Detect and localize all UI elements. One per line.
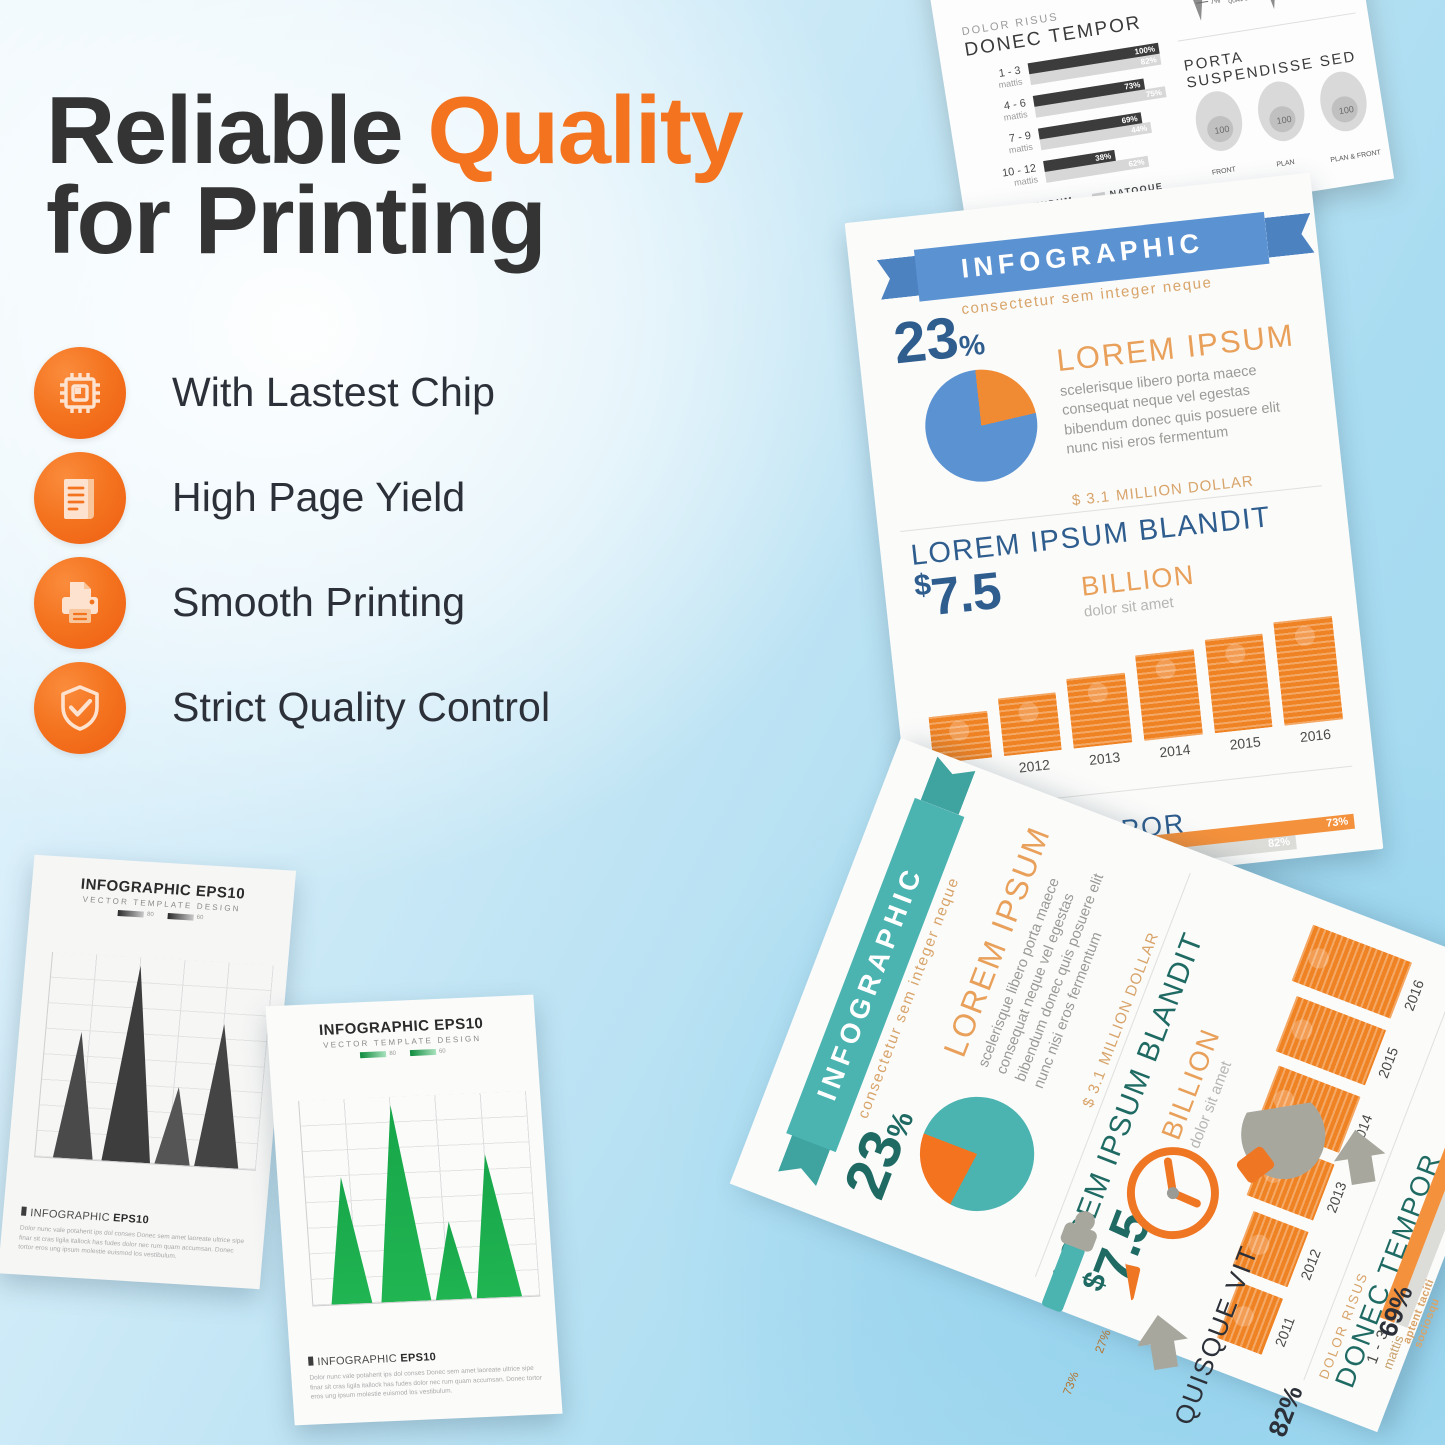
bar-item: 2013	[1067, 673, 1135, 770]
chart-green: INFOGRAPHIC EPS10 VECTOR TEMPLATE DESIGN…	[265, 995, 562, 1426]
pie-percent: 23%	[890, 301, 987, 377]
chart-footer-body: Dolor nunc vale potaherit ips dol conses…	[309, 1363, 545, 1402]
feature-label: Smooth Printing	[172, 579, 465, 626]
year-bar-chart: 2011 2012 2013 2014 2015 2016	[922, 613, 1345, 785]
chart-header: INFOGRAPHIC EPS10 VECTOR TEMPLATE DESIGN…	[267, 1013, 537, 1063]
chart-gray: INFOGRAPHIC EPS10 VECTOR TEMPLATE DESIGN…	[0, 855, 296, 1289]
feature-item-smooth-printing: Smooth Printing	[34, 550, 674, 655]
feature-item-page-yield: High Page Yield	[34, 445, 674, 550]
svg-text:FRONT: FRONT	[1212, 166, 1238, 177]
svg-text:PLAN: PLAN	[1276, 159, 1295, 169]
poster-gray-bar-chart: 1 - 3mattis 82% 100% 4 - 6mattis 75% 73%…	[968, 41, 1182, 202]
chart-footer: INFOGRAPHIC EPS10 Dolor nunc vale potahe…	[308, 1346, 545, 1402]
feature-label: With Lastest Chip	[172, 369, 495, 416]
blandit-title: LOREM IPSUM BLANDIT	[909, 501, 1273, 573]
headline-line2: for Printing	[46, 176, 876, 266]
chip-icon	[34, 347, 126, 439]
spike-area-plot	[298, 1091, 540, 1306]
pie-chart	[920, 364, 1043, 487]
svg-text:PLAN & FRONT: PLAN & FRONT	[1330, 149, 1382, 164]
shield-check-icon	[34, 662, 126, 754]
million-stat: $ 3.1 MILLION DOLLAR	[1070, 466, 1254, 512]
feature-item-chip: With Lastest Chip	[34, 340, 674, 445]
page-title: Reliable Quality for Printing	[46, 86, 876, 266]
promo-banner: Reliable Quality for Printing With Laste…	[0, 0, 1445, 1445]
bar-item: 2014	[1135, 649, 1205, 762]
arrow-up-icon	[1330, 1126, 1390, 1187]
printer-icon	[34, 557, 126, 649]
money-stat: $7.5	[912, 561, 1003, 630]
feature-label: High Page Yield	[172, 474, 465, 521]
document-icon	[34, 452, 126, 544]
spike-area-plot	[34, 952, 274, 1171]
money-unit: BILLION	[1080, 560, 1197, 603]
feature-label: Strict Quality Control	[172, 684, 550, 731]
chart-header: INFOGRAPHIC EPS10 VECTOR TEMPLATE DESIGN…	[30, 873, 295, 927]
arrow-up-icon	[1105, 1369, 1106, 1430]
chart-footer: INFOGRAPHIC EPS10 Dolor nunc vale potahe…	[18, 1206, 250, 1266]
svg-text:7%: 7%	[1210, 0, 1221, 6]
svg-text:QUAM SIT: QUAM SIT	[1228, 0, 1253, 5]
pie-chart	[903, 1080, 1051, 1228]
bar-item: 2012	[998, 692, 1065, 777]
bar-item: 2016	[1274, 616, 1346, 747]
feature-list: With Lastest Chip High Page Yield	[34, 340, 674, 760]
feature-item-quality-control: Strict Quality Control	[34, 655, 674, 760]
bar-item: 2015	[1204, 634, 1275, 755]
small-pct-73: 73%	[1060, 1370, 1082, 1397]
pen-callout-diagram: 2%7% 58%42% CRAS SITQUAM SIT CRAS SITQUA…	[1165, 0, 1354, 31]
